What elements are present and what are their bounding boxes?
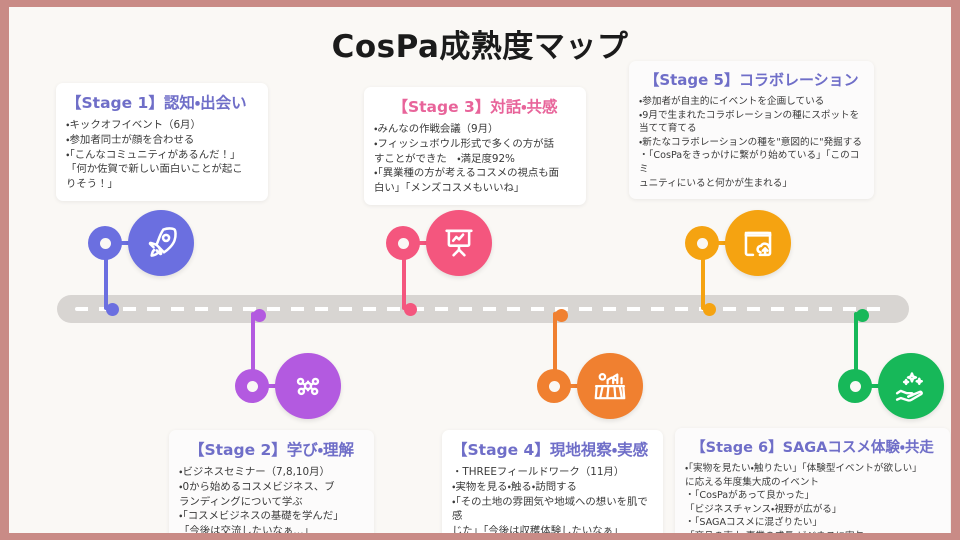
stage-4-line-3: ・「その土地の雰囲気や地域への想いを肌で感 (452, 495, 653, 525)
stage-4-line-1: ・THREEフィールドワーク（11月） (452, 465, 653, 480)
stage-6-card[interactable]: 【Stage 6】SAGAコスメ体験・共走 ・「実物を見たい・触りたい」「体験型… (675, 428, 950, 533)
stage-5-line-5: ・「CosPaをきっかけに繋がり始めている」「このコミ (639, 149, 864, 176)
stage-3-body: ・みんなの作戦会議（9月） ・フィッシュボウル形式で多くの方が話 すことができた… (374, 122, 576, 196)
timeline-road (57, 295, 909, 323)
stage-2-line-3: ランディングについて学ぶ (179, 495, 364, 510)
stage-6-line-1: ・「実物を見たい・触りたい」「体験型イベントが欲しい」 (685, 462, 940, 476)
stage-4-title: 【Stage 4】現地視察・実感 (452, 438, 653, 460)
stage-1-hub (88, 226, 122, 260)
stage-3-line-5: 白い」「メンズコスメもいいね」 (374, 181, 576, 196)
stage-2-card[interactable]: 【Stage 2】学び・理解 ・ビジネスセミナー（7,8,10月） ・0から始め… (169, 430, 374, 533)
stage-1-line-5: りそう！」 (66, 177, 258, 192)
stage-1-body: ・キックオフイベント（6月） ・参加者同士が顔を合わせる ・「こんなコミュニティ… (66, 118, 258, 192)
stage-6-line-5: ・「SAGAコスメに混ざりたい」 (685, 516, 940, 530)
stage-4-hub (537, 369, 571, 403)
stage-4-badge[interactable] (577, 353, 643, 419)
stage-6-line-6: 「商品の売上・事業の成長・ビジネスに寄与」 (685, 530, 940, 533)
stage-6-stem (854, 312, 858, 374)
stage-5-line-2: ・9月で生まれたコラボレーションの種にスポットを (639, 109, 864, 123)
stage-6-hub (838, 369, 872, 403)
stage-3-title: 【Stage 3】対話・共感 (374, 95, 576, 117)
infographic-frame: CosPa成熟度マップ (0, 0, 960, 540)
stage-5-body: ・参加者が自主的にイベントを企画している ・9月で生まれたコラボレーションの種に… (639, 95, 864, 190)
page-title: CosPa成熟度マップ (9, 21, 951, 66)
stage-2-hub (235, 369, 269, 403)
stage-5-line-1: ・参加者が自主的にイベントを企画している (639, 95, 864, 109)
network-people-icon (289, 367, 327, 405)
stage-3-hub (386, 226, 420, 260)
rocket-icon (142, 224, 180, 262)
stage-5-line-3: 当てて育てる (639, 122, 864, 136)
stage-3-line-4: ・「異業種の方が考えるコスメの視点も面 (374, 166, 576, 181)
stage-4-stem (553, 312, 557, 374)
stage-2-stem (251, 312, 255, 374)
stage-2-badge[interactable] (275, 353, 341, 419)
stage-1-card[interactable]: 【Stage 1】認知・出会い ・キックオフイベント（6月） ・参加者同士が顔を… (56, 83, 268, 201)
stage-5-line-4: ・新たなコラボレーションの種を"意図的に"発掘する (639, 136, 864, 150)
stage-6-title: 【Stage 6】SAGAコスメ体験・共走 (685, 436, 940, 457)
stage-1-line-1: ・キックオフイベント（6月） (66, 118, 258, 133)
stage-2-line-4: ・「コスメビジネスの基礎を学んだ」 (179, 509, 364, 524)
stage-6-body: ・「実物を見たい・触りたい」「体験型イベントが欲しい」 に応える年度集大成のイベ… (685, 462, 940, 533)
window-upload-icon (739, 224, 777, 262)
stage-3-line-1: ・みんなの作戦会議（9月） (374, 122, 576, 137)
stage-1-line-4: 「何か佐賀で新しい面白いことが起こ (66, 162, 258, 177)
stage-5-hub (685, 226, 719, 260)
stage-5-line-6: ュニティにいると何かが生まれる」 (639, 177, 864, 191)
stage-3-card[interactable]: 【Stage 3】対話・共感 ・みんなの作戦会議（9月） ・フィッシュボウル形式… (364, 87, 586, 205)
stage-2-title: 【Stage 2】学び・理解 (179, 438, 364, 460)
stage-2-line-1: ・ビジネスセミナー（7,8,10月） (179, 465, 364, 480)
road-center-dashes (75, 307, 891, 311)
stage-3-badge[interactable] (426, 210, 492, 276)
stage-3-line-3: すことができた ・満足度92% (374, 152, 576, 167)
stage-4-line-2: ・実物を見る・触る・訪問する (452, 480, 653, 495)
stage-1-badge[interactable] (128, 210, 194, 276)
presentation-chart-icon (440, 224, 478, 262)
stage-3-line-2: ・フィッシュボウル形式で多くの方が話 (374, 137, 576, 152)
stage-6-line-3: ・「CosPaがあって良かった」 (685, 489, 940, 503)
stage-5-badge[interactable] (725, 210, 791, 276)
farm-field-icon (591, 367, 629, 405)
sparkle-hand-icon (892, 367, 930, 405)
stage-6-line-4: 「ビジネスチャンス・視野が広がる」 (685, 503, 940, 517)
stage-5-title: 【Stage 5】コラボレーション (639, 69, 864, 90)
stage-1-title: 【Stage 1】認知・出会い (66, 91, 258, 113)
stage-1-line-3: ・「こんなコミュニティがあるんだ！」 (66, 148, 258, 163)
stage-2-line-5: 「今後は交流したいなぁ…」 (179, 524, 364, 533)
stage-2-line-2: ・0から始めるコスメビジネス、ブ (179, 480, 364, 495)
stage-6-badge[interactable] (878, 353, 944, 419)
stage-4-body: ・THREEフィールドワーク（11月） ・実物を見る・触る・訪問する ・「その土… (452, 465, 653, 533)
stage-1-line-2: ・参加者同士が顔を合わせる (66, 133, 258, 148)
stage-6-line-2: に応える年度集大成のイベント (685, 476, 940, 490)
stage-2-body: ・ビジネスセミナー（7,8,10月） ・0から始めるコスメビジネス、ブ ランディ… (179, 465, 364, 533)
infographic-canvas: CosPa成熟度マップ (9, 7, 951, 533)
stage-5-card[interactable]: 【Stage 5】コラボレーション ・参加者が自主的にイベントを企画している ・… (629, 61, 874, 199)
stage-4-line-4: じた」「今後は収穫体験したいなぁ」 (452, 524, 653, 533)
stage-4-card[interactable]: 【Stage 4】現地視察・実感 ・THREEフィールドワーク（11月） ・実物… (442, 430, 663, 533)
